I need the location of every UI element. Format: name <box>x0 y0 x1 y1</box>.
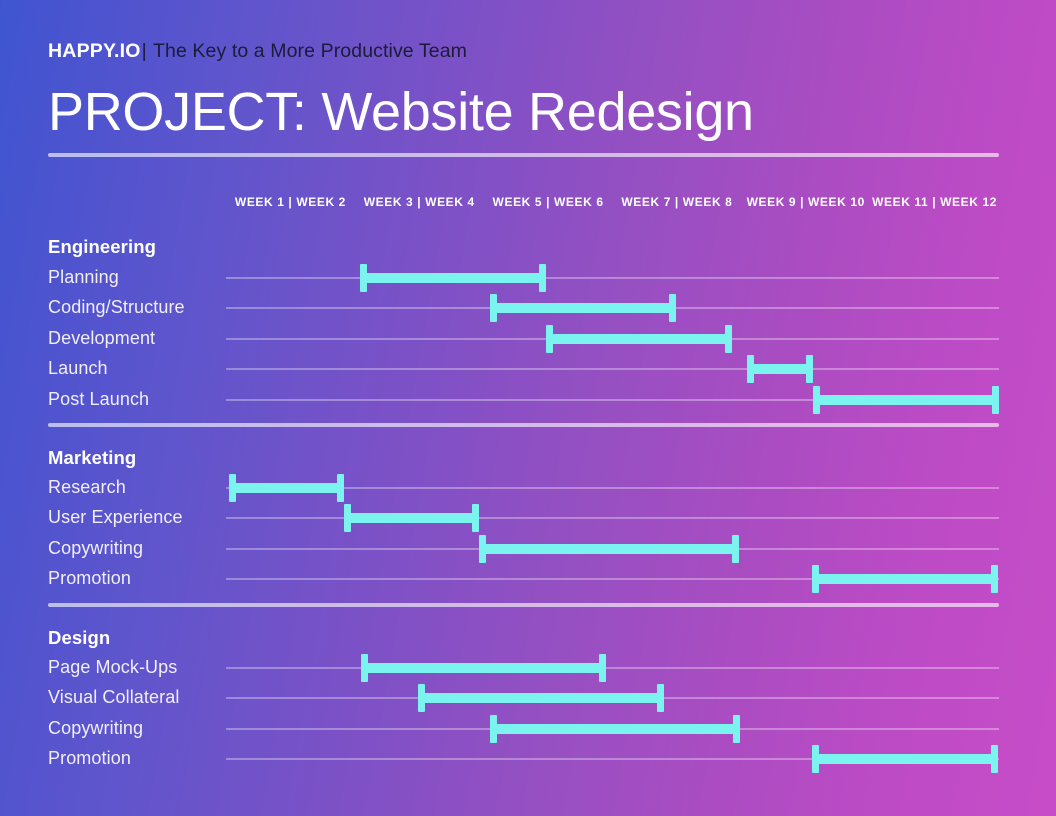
gantt-bar-end-cap <box>991 565 998 593</box>
gantt-bar-end-cap <box>669 294 676 322</box>
task-label: Launch <box>48 358 108 379</box>
gantt-bar-start-cap <box>361 654 368 682</box>
gantt-bar <box>813 395 999 405</box>
gantt-bar-start-cap <box>418 684 425 712</box>
task-label: Promotion <box>48 748 131 769</box>
gantt-bar-start-cap <box>490 715 497 743</box>
group-title-design: Design <box>48 627 110 649</box>
gantt-bar-end-cap <box>733 715 740 743</box>
gantt-bar-start-cap <box>229 474 236 502</box>
gantt-bar-start-cap <box>546 325 553 353</box>
gantt-bar <box>747 364 813 374</box>
gridline <box>226 368 999 370</box>
task-label: Post Launch <box>48 389 149 410</box>
gantt-bar-end-cap <box>657 684 664 712</box>
gantt-bar-end-cap <box>599 654 606 682</box>
gantt-bar <box>479 544 739 554</box>
task-label: Promotion <box>48 568 131 589</box>
gridline <box>226 517 999 519</box>
gantt-bar-end-cap <box>337 474 344 502</box>
gantt-bar-start-cap <box>479 535 486 563</box>
task-label: Research <box>48 477 126 498</box>
gantt-bar-start-cap <box>813 386 820 414</box>
gantt-bar <box>360 273 546 283</box>
task-label: Development <box>48 328 155 349</box>
task-label: Copywriting <box>48 718 143 739</box>
gantt-bar-start-cap <box>747 355 754 383</box>
gantt-bar <box>229 483 344 493</box>
gantt-bar <box>490 724 740 734</box>
gantt-bar-end-cap <box>732 535 739 563</box>
gantt-bar-end-cap <box>992 386 999 414</box>
task-label: Coding/Structure <box>48 297 185 318</box>
gantt-poster: HAPPY.IO| The Key to a More Productive T… <box>0 0 1056 816</box>
section-divider-2 <box>48 603 999 607</box>
gantt-bar-start-cap <box>344 504 351 532</box>
gantt-bar <box>490 303 676 313</box>
gantt-bar-start-cap <box>812 745 819 773</box>
gantt-bar <box>344 513 479 523</box>
gantt-bar-end-cap <box>725 325 732 353</box>
gantt-bar <box>546 334 732 344</box>
gantt-bar <box>812 754 998 764</box>
task-label: Planning <box>48 267 119 288</box>
task-label: Page Mock-Ups <box>48 657 177 678</box>
gantt-bar-start-cap <box>812 565 819 593</box>
group-title-marketing: Marketing <box>48 447 136 469</box>
gantt-bar-end-cap <box>806 355 813 383</box>
gridline <box>226 667 999 669</box>
task-label: Copywriting <box>48 538 143 559</box>
gantt-chart: EngineeringPlanningCoding/StructureDevel… <box>0 0 1056 816</box>
gantt-bar <box>812 574 998 584</box>
gantt-bar-start-cap <box>360 264 367 292</box>
task-label: User Experience <box>48 507 183 528</box>
gantt-bar-start-cap <box>490 294 497 322</box>
section-divider-1 <box>48 423 999 427</box>
gantt-bar-end-cap <box>991 745 998 773</box>
gantt-bar <box>361 663 606 673</box>
gantt-bar <box>418 693 664 703</box>
group-title-engineering: Engineering <box>48 236 156 258</box>
gridline <box>226 277 999 279</box>
gantt-bar-end-cap <box>472 504 479 532</box>
gantt-bar-end-cap <box>539 264 546 292</box>
task-label: Visual Collateral <box>48 687 179 708</box>
